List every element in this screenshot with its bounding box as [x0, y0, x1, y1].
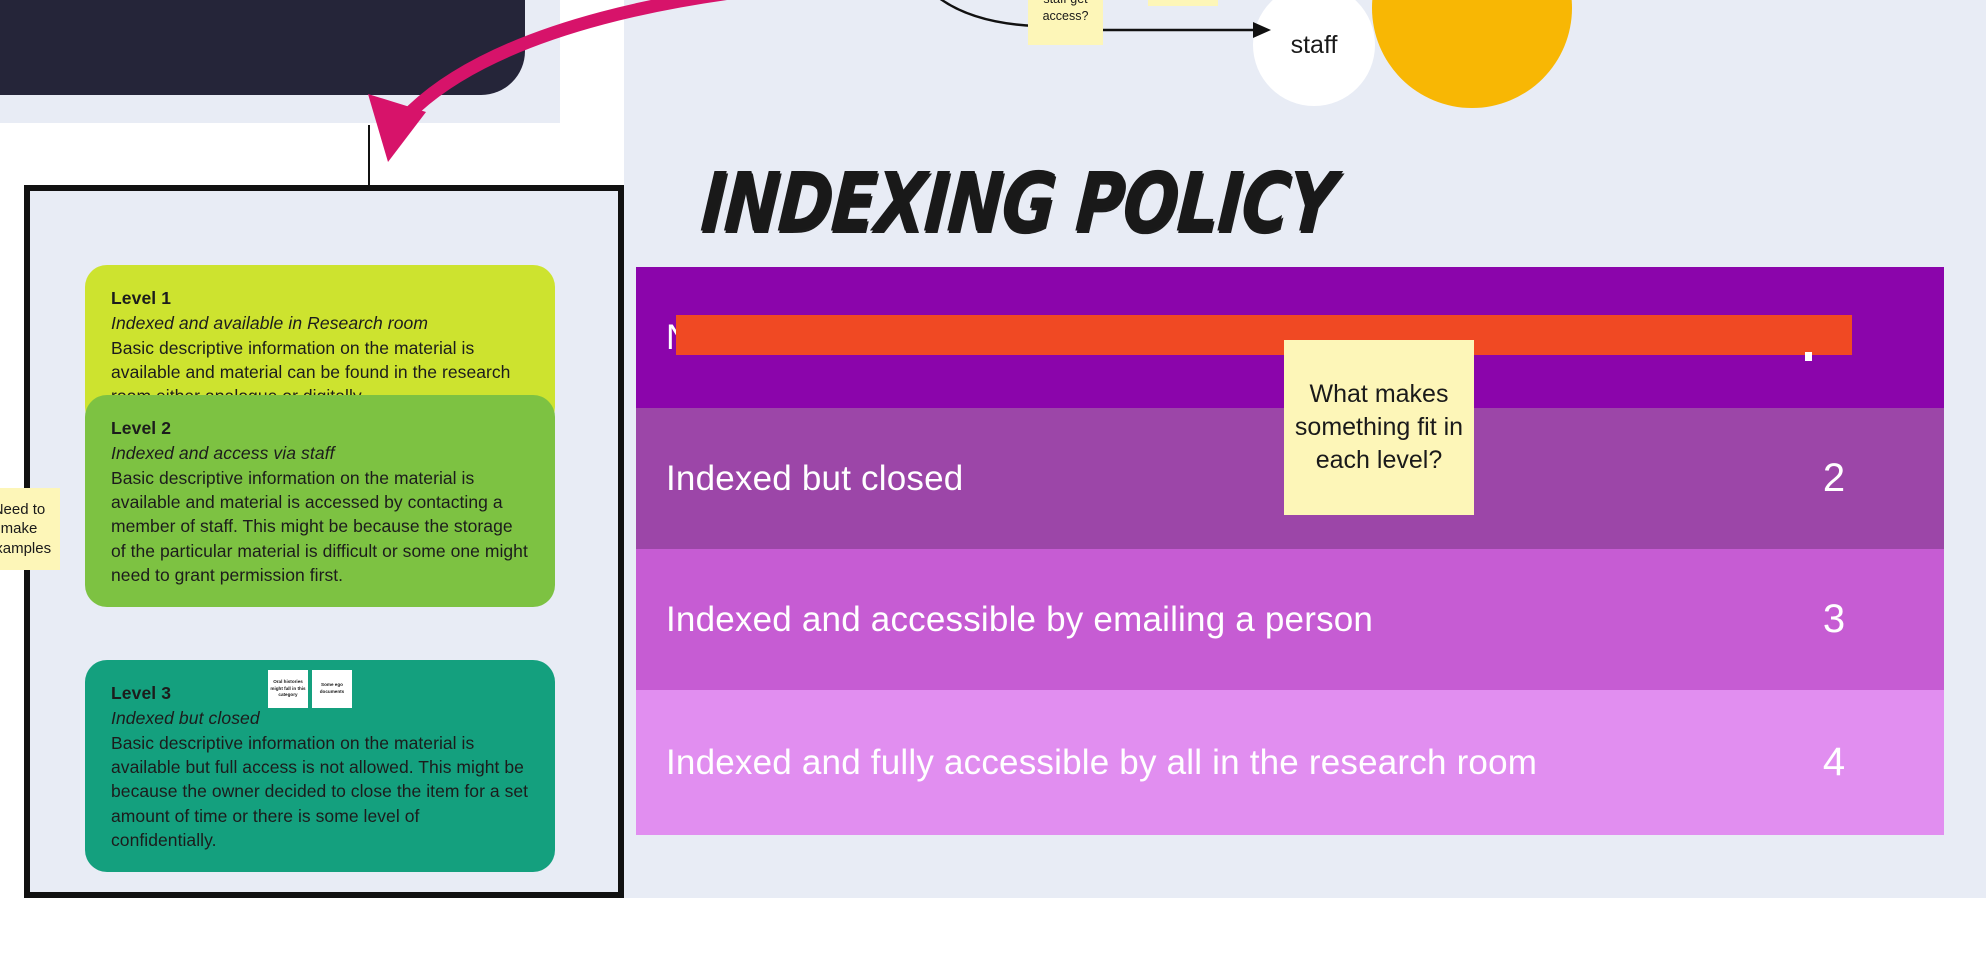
whiteboard-canvas: staff staff get access? Level 1 Indexed … — [0, 0, 1986, 972]
level-card-3-subtitle: Indexed but closed — [111, 706, 529, 731]
table-row-number: 4 — [1724, 740, 1944, 785]
level-card-2-subtitle: Indexed and access via staff — [111, 441, 529, 466]
sticky-note-staff-get-access[interactable]: staff get access? — [1028, 0, 1103, 45]
table-row[interactable]: Indexed and fully accessible by all in t… — [636, 690, 1944, 835]
level-card-2[interactable]: Level 2 Indexed and access via staff Bas… — [85, 395, 555, 607]
orange-highlight-bar[interactable] — [676, 315, 1852, 355]
level-card-3-body: Basic descriptive information on the mat… — [111, 731, 529, 853]
sticky-note-fragment[interactable] — [1148, 0, 1218, 6]
dark-rounded-shape — [0, 0, 525, 95]
sticky-note-staff-get-access-text: staff get access? — [1028, 0, 1103, 24]
mini-note-oral-histories-text: Oral histories might fall in this catego… — [270, 679, 306, 700]
level-card-2-title: Level 2 — [111, 417, 529, 441]
table-row-label: Indexed but closed — [636, 459, 1724, 499]
table-row-number: 2 — [1724, 456, 1944, 501]
table-row-number: 3 — [1724, 597, 1944, 642]
level-card-1-subtitle: Indexed and available in Research room — [111, 311, 529, 336]
white-gap — [0, 123, 624, 183]
sticky-note-what-makes[interactable]: What makes something fit in each level? — [1284, 340, 1474, 515]
vertical-connector-line — [368, 125, 370, 187]
level-card-1-title: Level 1 — [111, 287, 529, 311]
curved-black-connector — [895, 0, 1045, 40]
level-card-2-body: Basic descriptive information on the mat… — [111, 466, 529, 588]
mini-note-ego-documents[interactable]: Some ego documents — [312, 670, 352, 708]
table-row[interactable]: Indexed and accessible by emailing a per… — [636, 549, 1944, 690]
table-row-label: Indexed and fully accessible by all in t… — [636, 743, 1724, 783]
sticky-note-what-makes-text: What makes something fit in each level? — [1292, 378, 1466, 477]
sticky-note-need-examples[interactable]: Need to make examples — [0, 488, 60, 570]
page-title: INDEXING POLICY — [690, 156, 1345, 251]
black-arrow-to-staff — [1095, 10, 1275, 50]
obscured-row-number-sliver — [1805, 352, 1812, 361]
staff-circle-label: staff — [1291, 31, 1338, 60]
mini-note-oral-histories[interactable]: Oral histories might fall in this catego… — [268, 670, 308, 708]
mini-note-ego-documents-text: Some ego documents — [314, 682, 350, 696]
table-row-label: Indexed and accessible by emailing a per… — [636, 600, 1724, 640]
sticky-note-need-examples-text: Need to make examples — [0, 500, 60, 559]
level-3-mini-notes: Oral histories might fall in this catego… — [268, 670, 352, 708]
